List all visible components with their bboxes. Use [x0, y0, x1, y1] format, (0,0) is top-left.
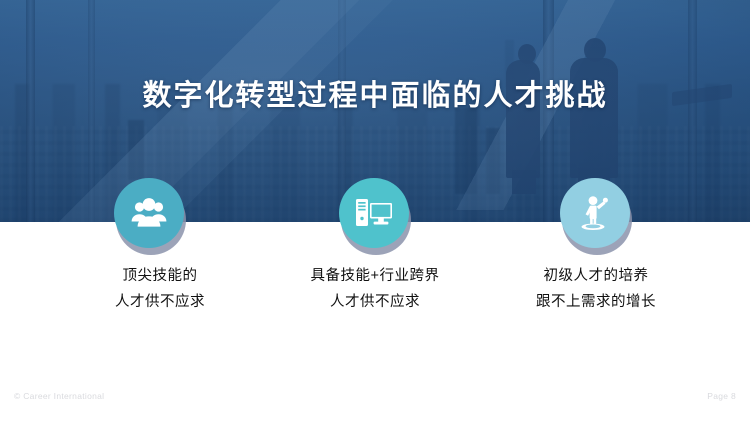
circle-fill-2	[339, 178, 409, 248]
circle-fill-1	[114, 178, 184, 248]
feature-caption-3-line1: 初级人才的培养	[476, 263, 716, 289]
slide-canvas: 数字化转型过程中面临的人才挑战 顶尖技能的 人才供不应求	[0, 0, 750, 422]
feature-caption-1: 顶尖技能的 人才供不应求	[40, 263, 280, 315]
feature-caption-2-line2: 人才供不应求	[255, 289, 495, 315]
feature-caption-3: 初级人才的培养 跟不上需求的增长	[476, 263, 716, 315]
circle-fill-3	[560, 178, 630, 248]
feature-circle-3[interactable]	[560, 178, 632, 256]
feature-caption-2: 具备技能+行业跨界 人才供不应求	[255, 263, 495, 315]
feature-caption-2-line1: 具备技能+行业跨界	[255, 263, 495, 289]
desktop-computer-icon	[355, 197, 393, 229]
feature-circle-1[interactable]	[114, 178, 186, 256]
feature-circle-2[interactable]	[339, 178, 411, 256]
people-group-icon	[130, 196, 168, 230]
footer-page-number: Page 8	[707, 391, 736, 401]
feature-caption-1-line1: 顶尖技能的	[40, 263, 280, 289]
page-title: 数字化转型过程中面临的人才挑战	[0, 76, 750, 116]
presenter-person-icon	[578, 195, 612, 231]
footer-copyright: © Career International	[14, 391, 104, 401]
feature-caption-3-line2: 跟不上需求的增长	[476, 289, 716, 315]
feature-caption-1-line2: 人才供不应求	[40, 289, 280, 315]
